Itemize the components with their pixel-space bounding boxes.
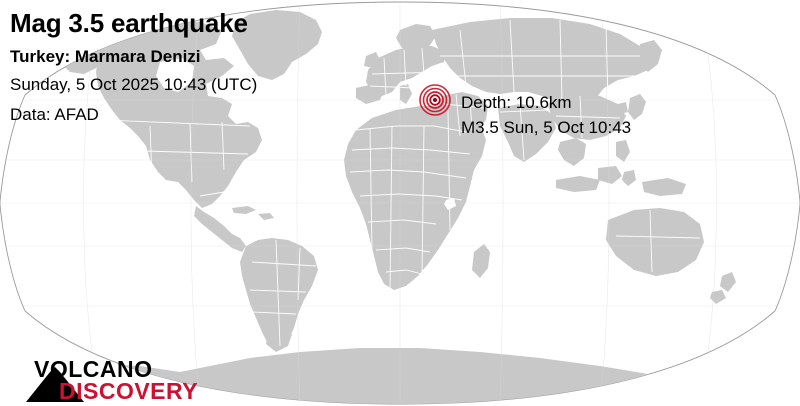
datetime-label: Sunday, 5 Oct 2025 10:43 (UTC) bbox=[10, 74, 257, 96]
earthquake-map-card: Mag 3.5 earthquake Turkey: Marmara Deniz… bbox=[0, 0, 800, 406]
data-source-label: Data: AFAD bbox=[10, 104, 99, 126]
logo-word-discovery: DISCOVERY bbox=[59, 378, 198, 404]
depth-label: Depth: 10.6km bbox=[461, 93, 572, 113]
magnitude-time-label: M3.5 Sun, 5 Oct 10:43 bbox=[461, 118, 631, 138]
volcano-discovery-logo[interactable]: VOLCANO DISCOVERY bbox=[24, 352, 199, 404]
page-title: Mag 3.5 earthquake bbox=[10, 8, 248, 38]
region-label: Turkey: Marmara Denizi bbox=[10, 46, 201, 68]
